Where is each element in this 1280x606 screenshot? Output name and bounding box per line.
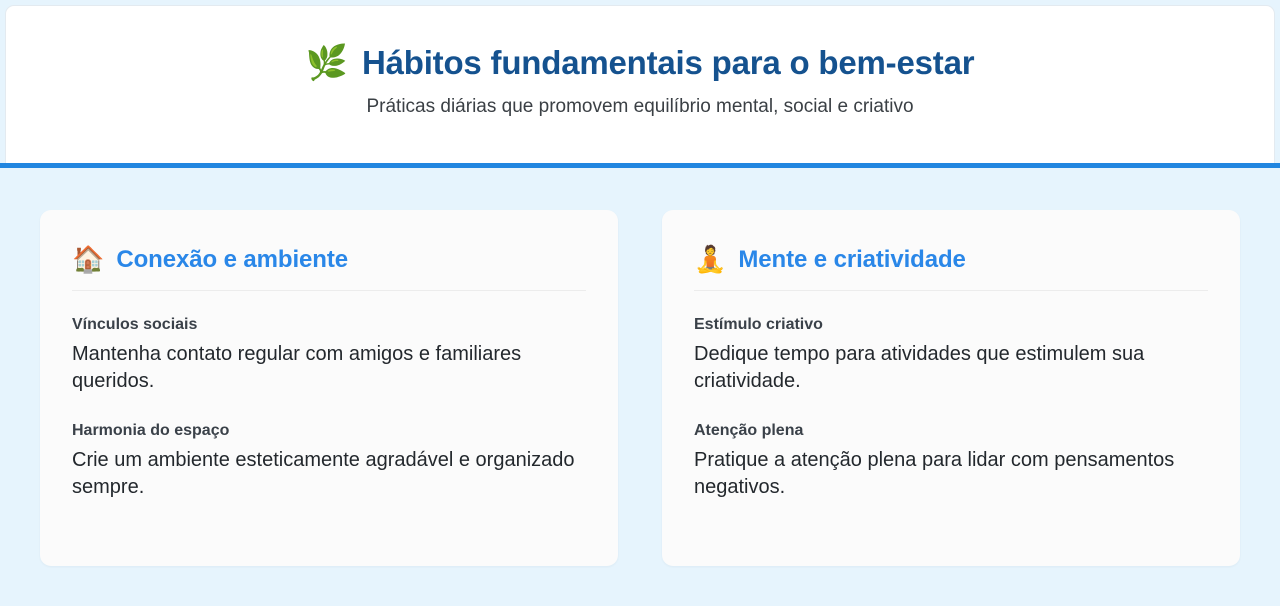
- list-item: Vínculos sociais Mantenha contato regula…: [72, 315, 586, 395]
- title-row: 🌿 Hábitos fundamentais para o bem-estar: [306, 44, 975, 82]
- meditating-person-icon: 🧘: [694, 247, 726, 273]
- page-header: 🌿 Hábitos fundamentais para o bem-estar …: [5, 5, 1275, 163]
- herb-leaf-icon: 🌿: [306, 46, 348, 80]
- item-description: Pratique a atenção plena para lidar com …: [694, 447, 1208, 501]
- house-icon: 🏠: [72, 247, 104, 273]
- card-divider: [694, 290, 1208, 291]
- list-item: Atenção plena Pratique a atenção plena p…: [694, 421, 1208, 501]
- item-description: Dedique tempo para atividades que estimu…: [694, 341, 1208, 395]
- card-items-list: Vínculos sociais Mantenha contato regula…: [72, 315, 586, 501]
- item-term: Estímulo criativo: [694, 315, 1208, 335]
- card-header: 🧘 Mente e criatividade: [694, 246, 1208, 274]
- list-item: Estímulo criativo Dedique tempo para ati…: [694, 315, 1208, 395]
- item-term: Vínculos sociais: [72, 315, 586, 335]
- card-items-list: Estímulo criativo Dedique tempo para ati…: [694, 315, 1208, 501]
- list-item: Harmonia do espaço Crie um ambiente este…: [72, 421, 586, 501]
- card-conexao-e-ambiente: 🏠 Conexão e ambiente Vínculos sociais Ma…: [40, 210, 618, 566]
- card-mente-e-criatividade: 🧘 Mente e criatividade Estímulo criativo…: [662, 210, 1240, 566]
- item-description: Mantenha contato regular com amigos e fa…: [72, 341, 586, 395]
- card-title: Conexão e ambiente: [116, 246, 348, 274]
- item-description: Crie um ambiente esteticamente agradável…: [72, 447, 586, 501]
- page-subtitle: Práticas diárias que promovem equilíbrio…: [366, 96, 913, 118]
- card-divider: [72, 290, 586, 291]
- page-root: 🌿 Hábitos fundamentais para o bem-estar …: [0, 0, 1280, 606]
- item-term: Atenção plena: [694, 421, 1208, 441]
- item-term: Harmonia do espaço: [72, 421, 586, 441]
- card-header: 🏠 Conexão e ambiente: [72, 246, 586, 274]
- card-title: Mente e criatividade: [738, 246, 965, 274]
- page-title: Hábitos fundamentais para o bem-estar: [362, 44, 974, 82]
- cards-container: 🏠 Conexão e ambiente Vínculos sociais Ma…: [0, 168, 1280, 606]
